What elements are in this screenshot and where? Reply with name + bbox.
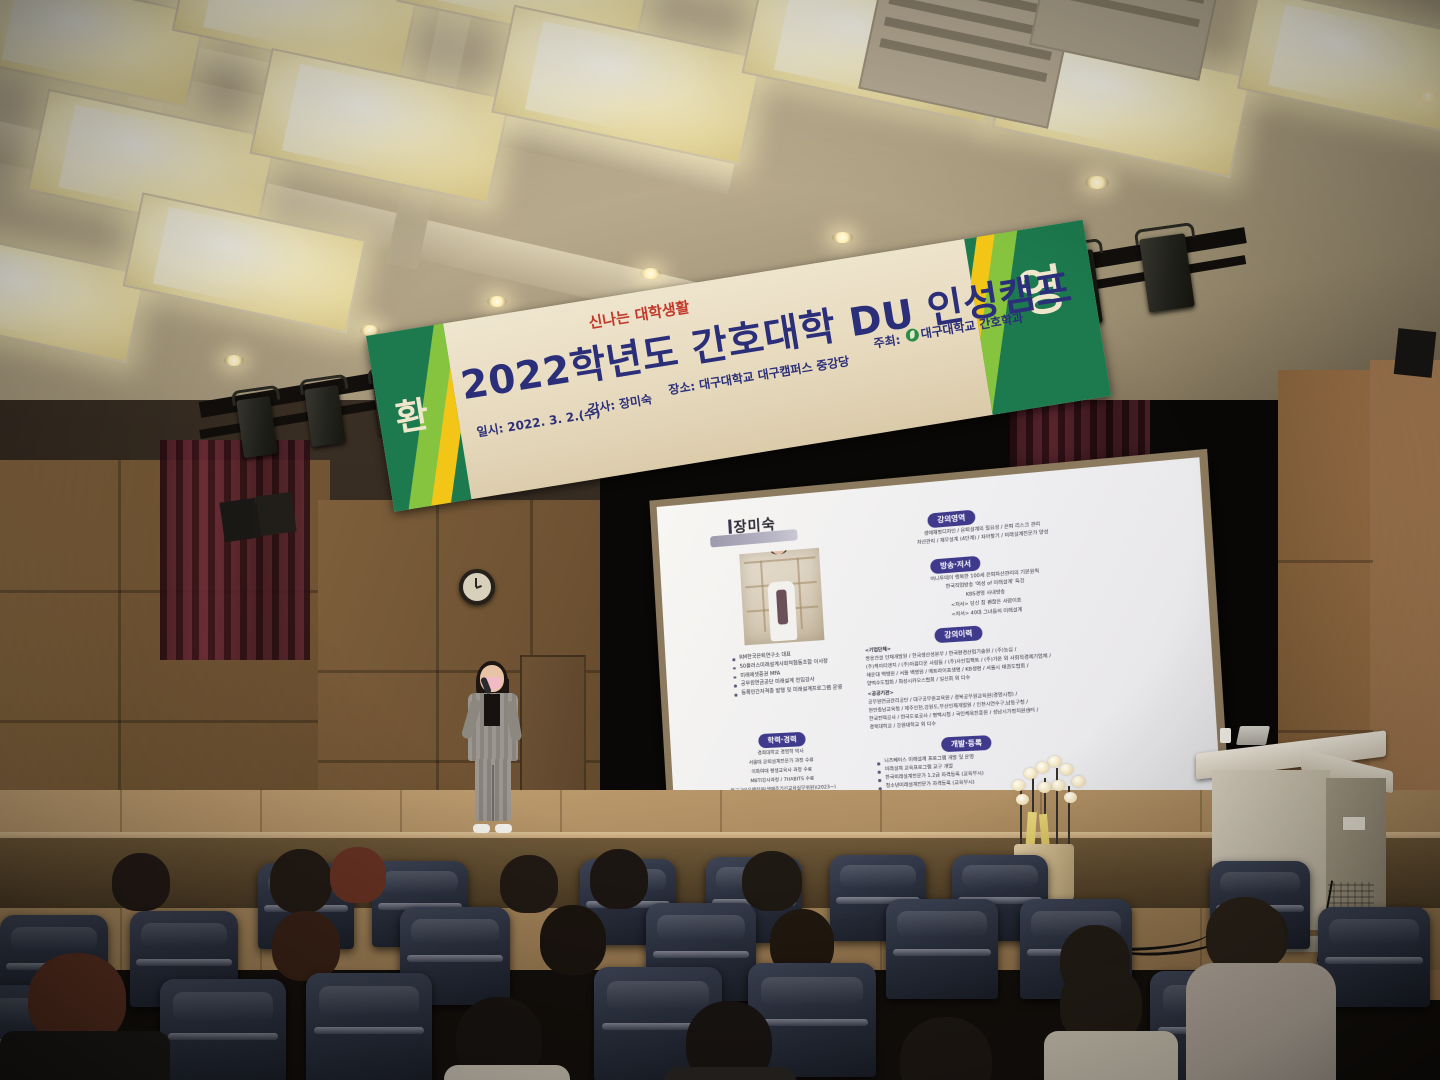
podium-control-plate[interactable] [1342,816,1366,831]
slide-speaker-name: 장미숙 [733,514,776,538]
audience-head [272,911,340,981]
slide-heading-education-career: 학력·경력 [758,732,806,749]
slide-heading-development: 개발·등록 [941,735,992,752]
presenter-shoe-right [495,824,512,833]
audience-head [270,849,332,913]
audience-head [330,847,386,903]
lecture-hall-photo: 환 영 신나는 대학생활 2022학년도 간호대학 DU 인성캠프 일시: 20… [0,0,1440,1080]
audience-head [742,851,802,911]
ceiling-light-panel [1237,0,1440,137]
audience-head [112,853,170,911]
audience-head [590,849,648,909]
recessed-downlight [1085,176,1109,189]
seat[interactable] [306,973,432,1080]
presenter-speaker [460,665,526,833]
speaker-portrait [739,548,824,646]
wall-seam [1278,560,1373,563]
laptop [1236,726,1270,745]
slide-heading-lecture-areas: 강의영역 [927,510,975,529]
wall-speaker [1394,328,1437,378]
audience-body [1044,1031,1178,1080]
seat[interactable] [886,899,998,999]
slide-profile-bullets: RM한국은퇴연구소 대표 50플러스미래설계사회적협동조합 이사장 미래에셋증권… [731,647,846,699]
presenter-trousers [475,759,511,821]
wall-speaker [219,498,260,543]
audience-seating [0,845,1440,1080]
audience-body [1186,963,1336,1080]
slide-history-group2-label: <공공기관> [867,691,893,700]
audience-head [900,1017,992,1080]
slide-heading-lecture-history: 강의이력 [934,625,982,643]
slide-heading-media-books: 방송·저서 [930,556,981,575]
wall-clock [459,569,495,605]
seat[interactable] [160,979,286,1080]
wall-speaker [255,492,296,537]
audience-body [664,1067,796,1080]
presenter-shoe-left [473,824,490,833]
presenter-top [484,694,500,726]
wall-seam [1278,730,1373,733]
audience-body [0,1031,170,1080]
audience-head [500,855,558,913]
audience-head [540,905,606,975]
ceiling-light-panel [249,48,510,204]
cup [1220,728,1231,743]
audience-body [444,1065,570,1080]
recessed-downlight [1417,90,1439,102]
wall-seam [0,720,330,723]
